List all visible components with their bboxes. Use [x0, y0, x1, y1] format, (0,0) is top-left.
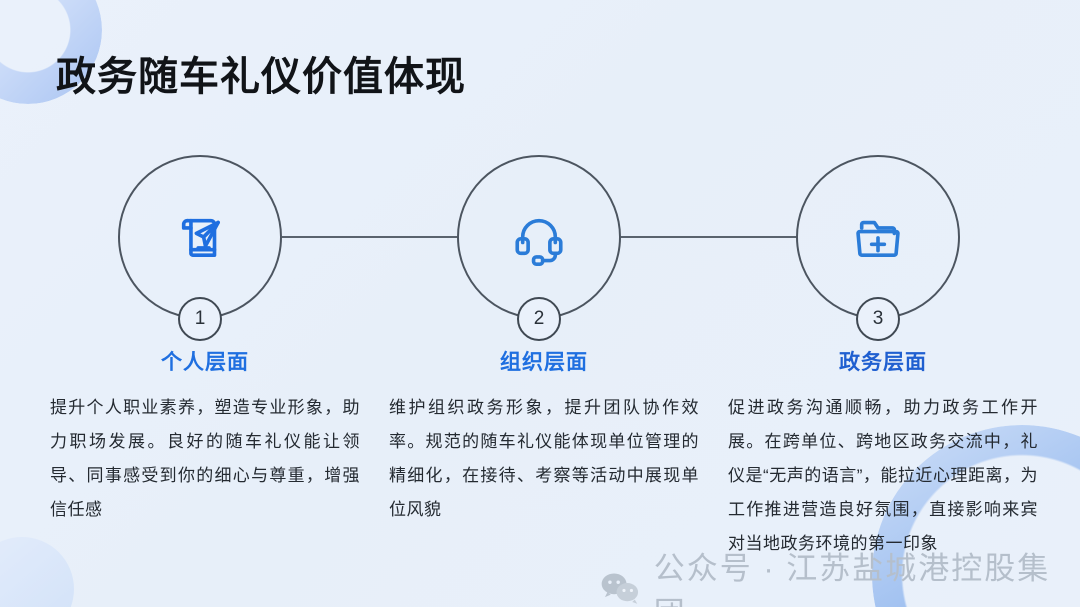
three-step-diagram: 1 2: [0, 140, 1080, 360]
column-3-heading: 政务层面: [728, 346, 1038, 376]
slide-canvas: 政务随车礼仪价值体现 1: [0, 0, 1080, 607]
connector-line-2-3: [621, 236, 797, 238]
column-2: 组织层面 维护组织政务形象，提升团队协作效率。规范的随车礼仪能体现单位管理的精细…: [389, 346, 699, 527]
column-3-body: 促进政务沟通顺畅，助力政务工作开展。在跨单位、跨地区政务交流中，礼仪是“无声的语…: [728, 391, 1038, 561]
node-badge-3: 3: [856, 297, 900, 341]
column-1-body: 提升个人职业素养，塑造专业形象，助力职场发展。良好的随车礼仪能让领导、同事感受到…: [50, 391, 360, 527]
folder-plus-icon: [849, 208, 907, 266]
diagram-node-3[interactable]: 3: [796, 155, 960, 319]
connector-line-1-2: [282, 236, 458, 238]
column-2-body: 维护组织政务形象，提升团队协作效率。规范的随车礼仪能体现单位管理的精细化，在接待…: [389, 391, 699, 527]
node-circle-2: [457, 155, 621, 319]
column-1-heading: 个人层面: [50, 346, 360, 376]
wechat-icon: [600, 571, 640, 605]
node-badge-2: 2: [517, 297, 561, 341]
node-badge-1: 1: [178, 297, 222, 341]
page-title: 政务随车礼仪价值体现: [56, 44, 466, 102]
headset-icon: [510, 208, 568, 266]
node-circle-3: [796, 155, 960, 319]
diagram-node-2[interactable]: 2: [457, 155, 621, 319]
scroll-paper-plane-icon: [171, 208, 229, 266]
column-1: 个人层面 提升个人职业素养，塑造专业形象，助力职场发展。良好的随车礼仪能让领导、…: [50, 346, 360, 527]
decorative-circle-bottom-left: [0, 537, 74, 607]
diagram-node-1[interactable]: 1: [118, 155, 282, 319]
column-2-heading: 组织层面: [389, 346, 699, 376]
column-3: 政务层面 促进政务沟通顺畅，助力政务工作开展。在跨单位、跨地区政务交流中，礼仪是…: [728, 346, 1038, 561]
node-circle-1: [118, 155, 282, 319]
